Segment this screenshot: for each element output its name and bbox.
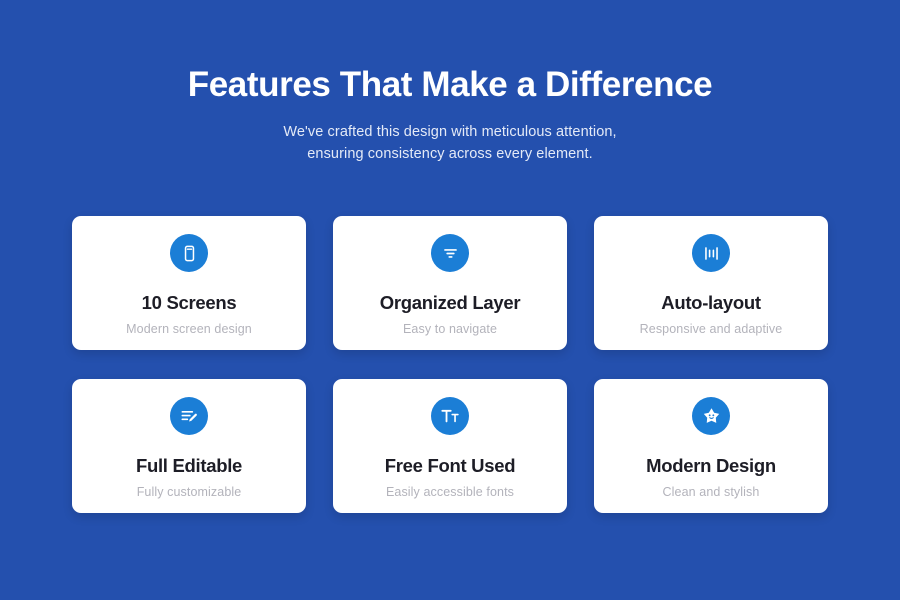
feature-card-subtitle: Fully customizable [137,485,242,500]
feature-card-subtitle: Responsive and adaptive [640,322,783,337]
feature-card[interactable]: Organized Layer Easy to navigate [333,216,567,350]
icon-badge [431,234,469,272]
auto-layout-bars-icon [702,244,721,263]
page-title: Features That Make a Difference [0,66,900,105]
features-section: Features That Make a Difference We've cr… [0,0,900,600]
section-header: Features That Make a Difference We've cr… [0,66,900,165]
feature-card-title: Modern Design [646,455,776,476]
icon-badge [170,397,208,435]
feature-card[interactable]: Auto-layout Responsive and adaptive [594,216,828,350]
feature-card[interactable]: Full Editable Fully customizable [72,379,306,513]
feature-card-title: Auto-layout [661,292,760,313]
star-smile-icon [701,406,722,427]
icon-badge [170,234,208,272]
feature-card[interactable]: 10 Screens Modern screen design [72,216,306,350]
icon-badge [692,234,730,272]
feature-card-title: Full Editable [136,455,242,476]
feature-card-title: Organized Layer [380,292,520,313]
feature-card[interactable]: Modern Design Clean and stylish [594,379,828,513]
feature-card-grid: 10 Screens Modern screen design Organize… [72,216,828,513]
feature-card-title: Free Font Used [385,455,515,476]
icon-badge [431,397,469,435]
icon-badge [692,397,730,435]
feature-card-title: 10 Screens [142,292,237,313]
feature-card[interactable]: Free Font Used Easily accessible fonts [333,379,567,513]
section-subtitle-line-2: ensuring consistency across every elemen… [0,143,900,165]
typography-tt-icon [439,405,461,427]
feature-card-subtitle: Modern screen design [126,322,252,337]
feature-card-subtitle: Clean and stylish [663,485,760,500]
edit-pencil-icon [179,406,199,426]
mobile-screen-icon [180,244,199,263]
filter-layers-icon [441,244,460,263]
section-subtitle-line-1: We've crafted this design with meticulou… [0,121,900,143]
feature-card-subtitle: Easy to navigate [403,322,497,337]
feature-card-subtitle: Easily accessible fonts [386,485,514,500]
section-subtitle: We've crafted this design with meticulou… [0,121,900,166]
